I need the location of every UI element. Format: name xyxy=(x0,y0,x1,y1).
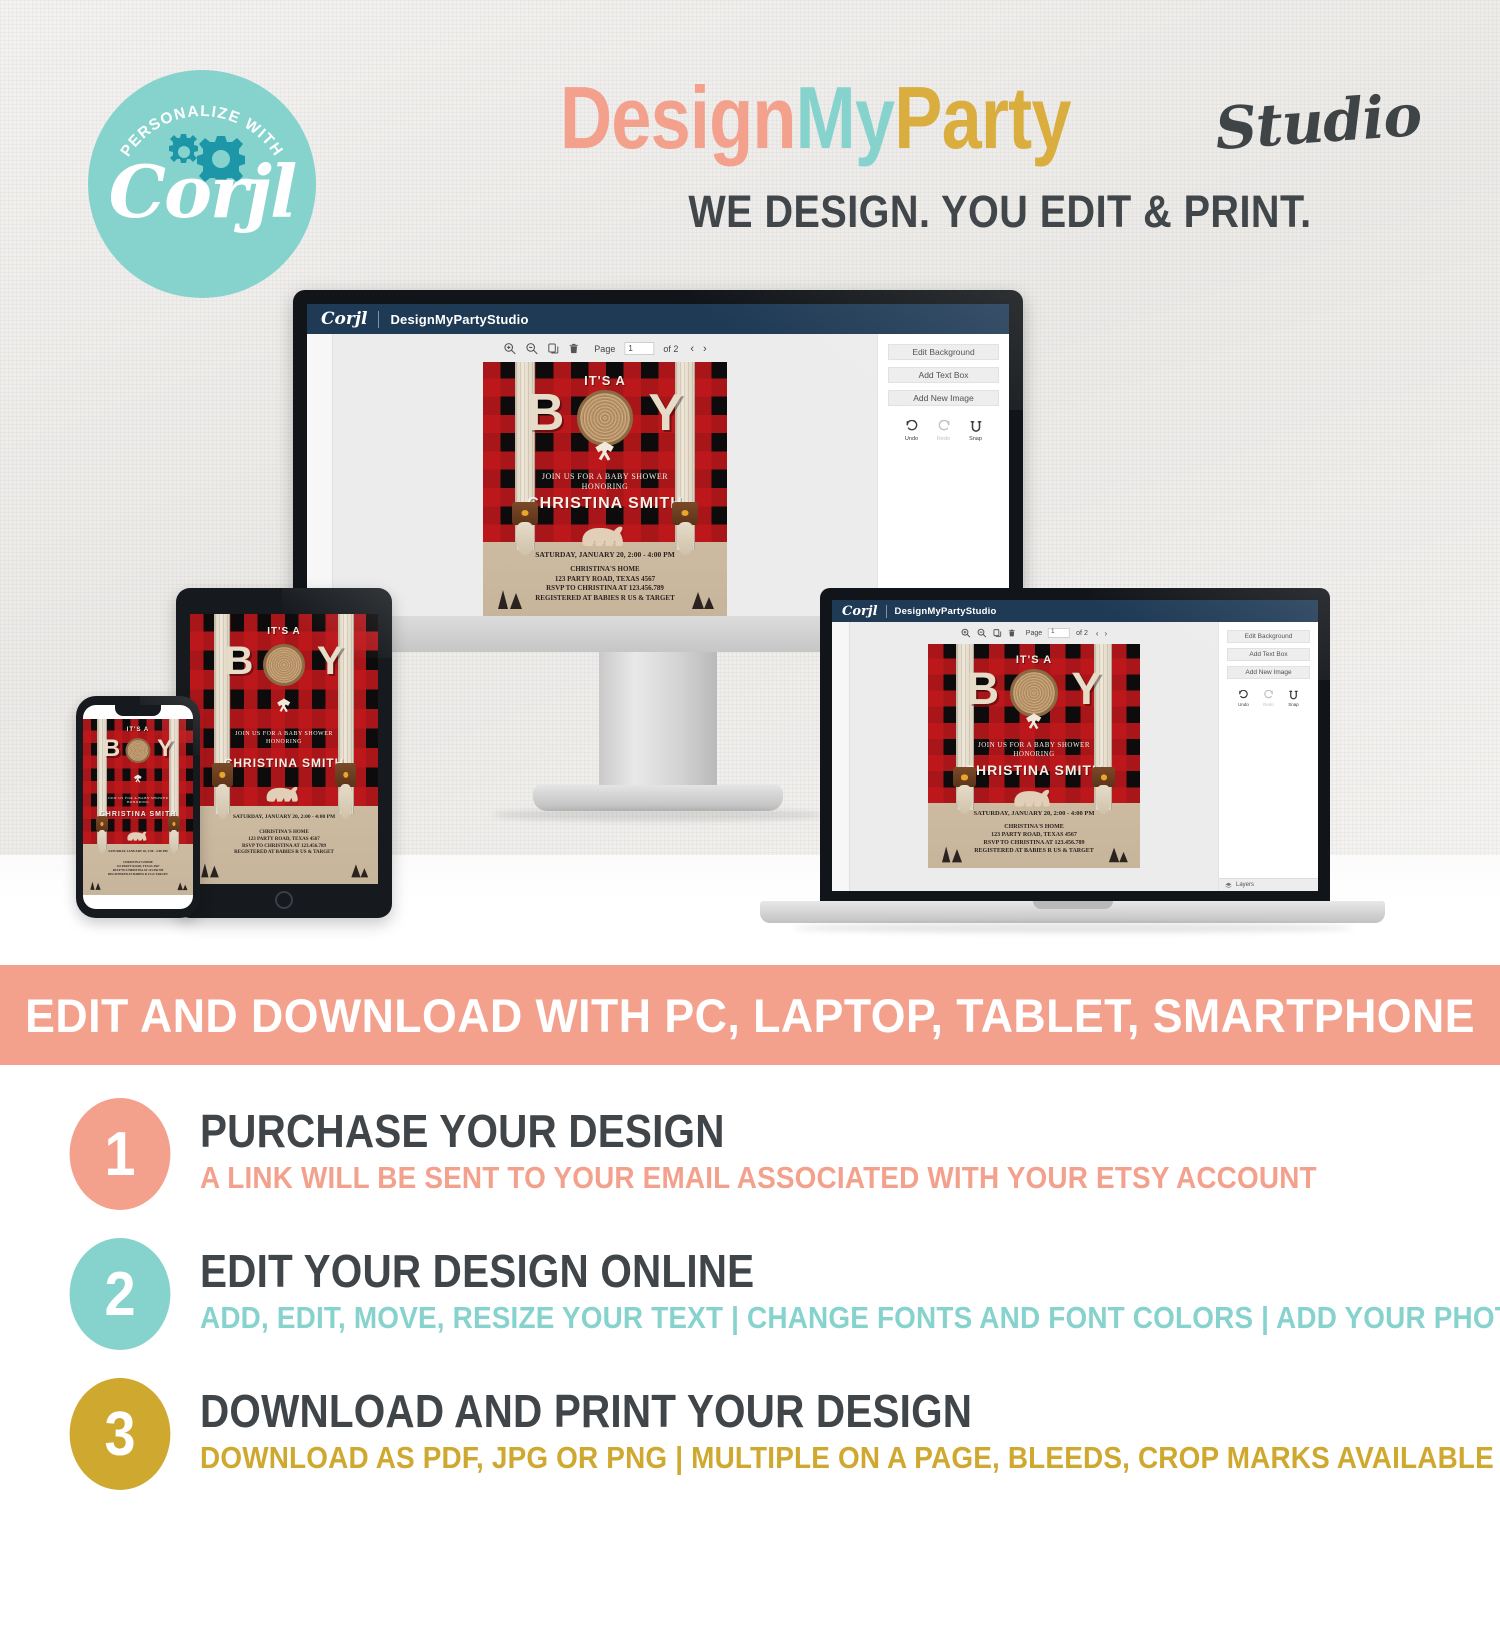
device-compatibility-banner: EDIT AND DOWNLOAD WITH PC, LAPTOP, TABLE… xyxy=(0,965,1500,1065)
zoom-out-icon[interactable] xyxy=(525,342,538,355)
edit-background-button[interactable]: Edit Background xyxy=(888,344,999,360)
banner-text: EDIT AND DOWNLOAD WITH PC, LAPTOP, TABLE… xyxy=(25,988,1475,1043)
laptop-shadow xyxy=(793,923,1353,933)
pine-tree-icon xyxy=(176,881,188,891)
invite-join-line2: HONORING xyxy=(928,750,1140,759)
layers-icon xyxy=(1225,882,1232,889)
laptop-editor-body: Page 1 of 2 ‹ › IT'S A xyxy=(832,622,1318,891)
redo-label: Redo xyxy=(937,436,950,442)
invite-detail-1: 123 PARTY ROAD, TEXAS 4567 xyxy=(483,575,727,584)
page-label: Page xyxy=(594,344,615,354)
laptop-screen: Corjl DesignMyPartyStudio xyxy=(832,600,1318,891)
invite-join-line2: HONORING xyxy=(83,800,193,804)
redo-button[interactable]: Redo xyxy=(937,420,951,442)
duplicate-icon[interactable] xyxy=(547,342,559,355)
phone-notch xyxy=(115,705,161,716)
step-title: DOWNLOAD AND PRINT YOUR DESIGN xyxy=(200,1384,972,1438)
snap-button[interactable]: Snap xyxy=(969,420,983,442)
laptop-canvas[interactable]: Page 1 of 2 ‹ › IT'S A xyxy=(850,622,1218,891)
invite-its-a-text: IT'S A xyxy=(83,727,193,733)
pine-tree-icon xyxy=(939,844,965,864)
laptop-right-panel: Edit Background Add Text Box Add New Ima… xyxy=(1218,622,1318,891)
page-total-label: of 2 xyxy=(663,344,678,354)
next-page-button[interactable]: › xyxy=(1105,629,1108,638)
invite-join-line2: HONORING xyxy=(483,482,727,492)
editor-canvas[interactable]: Page 1 of 2 ‹ › IT'S A xyxy=(333,334,877,616)
corjl-logo: Corjl xyxy=(321,309,367,329)
tablet-body: IT'S A B Y JOIN US FOR A BABY SHOWER HON… xyxy=(176,588,392,918)
pine-tree-icon xyxy=(199,861,221,879)
snap-button[interactable]: Snap xyxy=(1288,690,1299,707)
invite-join-line1: JOIN US FOR A BABY SHOWER xyxy=(190,731,378,739)
pine-tree-icon xyxy=(495,587,525,611)
bear-icon xyxy=(124,828,152,844)
monitor-stand-neck xyxy=(599,652,717,792)
prev-page-button[interactable]: ‹ xyxy=(690,343,694,355)
tablet-home-button[interactable] xyxy=(275,891,293,909)
crossed-axes-icon xyxy=(928,713,1140,731)
boy-letter-b: B xyxy=(224,639,253,683)
page-label: Page xyxy=(1026,630,1042,637)
monitor-bezel: Corjl DesignMyPartyStudio xyxy=(293,290,1023,616)
add-text-box-button[interactable]: Add Text Box xyxy=(888,367,999,383)
boy-letter-y: Y xyxy=(1071,663,1101,714)
step-subtitle: ADD, EDIT, MOVE, RESIZE YOUR TEXT | CHAN… xyxy=(200,1300,1500,1336)
brand-part-design: Design xyxy=(560,68,796,167)
brand-tagline: WE DESIGN. YOU EDIT & PRINT. xyxy=(613,186,1387,238)
step-item: 1 PURCHASE YOUR DESIGN A LINK WILL BE SE… xyxy=(0,1090,1500,1230)
shop-name-label: DesignMyPartyStudio xyxy=(895,606,997,617)
boy-letter-b: B xyxy=(103,735,120,762)
monitor-stand-base xyxy=(533,785,783,811)
bear-icon xyxy=(261,781,307,807)
redo-button[interactable]: Redo xyxy=(1263,690,1274,707)
laptop-left-rail[interactable] xyxy=(832,622,850,891)
invite-join-line2: HONORING xyxy=(190,739,378,747)
add-new-image-button[interactable]: Add New Image xyxy=(888,390,999,406)
invite-date-text: SATURDAY, JANUARY 20, 2:00 - 4:00 PM xyxy=(483,550,727,559)
brand-studio-script: Studio xyxy=(1213,81,1423,163)
zoom-in-icon[interactable] xyxy=(961,628,971,638)
layers-label: Layers xyxy=(1236,882,1254,888)
log-slice-icon xyxy=(1010,669,1058,717)
zoom-out-icon[interactable] xyxy=(977,628,987,638)
snap-label: Snap xyxy=(969,436,982,442)
duplicate-icon[interactable] xyxy=(993,628,1002,638)
shop-name-label: DesignMyPartyStudio xyxy=(390,312,528,327)
step-title: EDIT YOUR DESIGN ONLINE xyxy=(200,1244,754,1298)
invitation-preview[interactable]: IT'S A B Y JOIN US FOR A BAB xyxy=(483,362,727,616)
smartphone-mockup: IT'S A B Y JOIN US FOR A BABY SHOWER HON… xyxy=(76,696,200,918)
phone-screen: IT'S A B Y JOIN US FOR A BABY SHOWER HON… xyxy=(83,705,193,909)
header-divider xyxy=(886,605,887,618)
invite-its-a-text: IT'S A xyxy=(190,626,378,637)
laptop-editor-header-bar: Corjl DesignMyPartyStudio xyxy=(832,600,1318,622)
invitation-preview[interactable]: IT'S A B Y JOIN US FOR A BABY SHOWER HON… xyxy=(190,614,378,884)
log-slice-icon xyxy=(126,738,151,763)
invite-join-text: JOIN US FOR A BABY SHOWER HONORING xyxy=(190,731,378,746)
invite-details-text: CHRISTINA'S HOME 123 PARTY ROAD, TEXAS 4… xyxy=(83,860,193,876)
monitor-screen: Corjl DesignMyPartyStudio xyxy=(307,304,1009,616)
invitation-preview[interactable]: IT'S A B Y JOIN US FOR A BABY SHOWER HON… xyxy=(83,719,193,895)
tablet-mockup: IT'S A B Y JOIN US FOR A BABY SHOWER HON… xyxy=(176,588,392,918)
invite-join-line1: JOIN US FOR A BABY SHOWER xyxy=(483,472,727,482)
crossed-axes-icon xyxy=(83,774,193,784)
editor-header-bar: Corjl DesignMyPartyStudio xyxy=(307,304,1009,334)
invite-join-line1: JOIN US FOR A BABY SHOWER xyxy=(928,741,1140,750)
invite-its-a-text: IT'S A xyxy=(928,654,1140,666)
boy-letter-y: Y xyxy=(648,384,683,442)
redo-label: Redo xyxy=(1263,702,1274,707)
invite-date-text: SATURDAY, JANUARY 20, 2:00 - 4:00 PM xyxy=(190,814,378,820)
editor-toolbar: Page 1 of 2 ‹ › xyxy=(503,342,706,355)
crossed-axes-icon xyxy=(483,441,727,463)
next-page-button[interactable]: › xyxy=(703,343,707,355)
tablet-screen: IT'S A B Y JOIN US FOR A BABY SHOWER HON… xyxy=(190,614,378,884)
step-number-badge: 1 xyxy=(70,1098,171,1210)
boy-letter-y: Y xyxy=(317,639,344,683)
invite-join-text: JOIN US FOR A BABY SHOWER HONORING xyxy=(928,741,1140,759)
invite-detail-2: RSVP TO CHRISTINA AT 123.456.789 xyxy=(190,844,378,851)
editor-right-panel: Edit Background Add Text Box Add New Ima… xyxy=(877,334,1009,616)
step-subtitle: DOWNLOAD AS PDF, JPG OR PNG | MULTIPLE O… xyxy=(200,1440,1494,1476)
editor-body: Page 1 of 2 ‹ › IT'S A xyxy=(307,334,1009,616)
layers-bar[interactable]: Layers xyxy=(1219,878,1318,891)
invite-detail-3: REGISTERED AT BABIES R US & TARGET xyxy=(83,872,193,876)
bear-icon xyxy=(575,519,635,553)
invite-detail-1: 123 PARTY ROAD, TEXAS 4567 xyxy=(190,837,378,844)
header-divider xyxy=(378,311,379,328)
phone-body: IT'S A B Y JOIN US FOR A BABY SHOWER HON… xyxy=(76,696,200,918)
pine-tree-icon xyxy=(689,589,715,611)
boy-letter-y: Y xyxy=(157,735,173,762)
invitation-preview[interactable]: IT'S A B Y JOIN US FOR A BAB xyxy=(928,644,1140,868)
invite-join-text: JOIN US FOR A BABY SHOWER HONORING xyxy=(83,796,193,805)
add-text-box-button[interactable]: Add Text Box xyxy=(1227,648,1310,661)
boy-letter-b: B xyxy=(967,663,1000,714)
page-number-input[interactable]: 1 xyxy=(624,342,654,355)
invite-detail-3: REGISTERED AT BABIES R US & TARGET xyxy=(190,850,378,857)
step-number-badge: 3 xyxy=(70,1378,171,1490)
add-new-image-button[interactable]: Add New Image xyxy=(1227,666,1310,679)
page-total-label: of 2 xyxy=(1076,630,1088,637)
laptop-base-notch xyxy=(1033,901,1113,909)
edit-background-button[interactable]: Edit Background xyxy=(1227,630,1310,643)
boy-letter-b: B xyxy=(527,384,565,442)
badge-wordmark: Corjl xyxy=(88,156,316,228)
invite-detail-0: CHRISTINA'S HOME xyxy=(928,823,1140,831)
brand-part-my: My xyxy=(796,68,895,167)
trash-icon[interactable] xyxy=(568,342,579,355)
invite-date-text: SATURDAY, JANUARY 20, 2:00 - 4:00 PM xyxy=(928,810,1140,817)
step-number-badge: 2 xyxy=(70,1238,171,1350)
laptop-mockup: Corjl DesignMyPartyStudio xyxy=(760,588,1385,948)
undo-button[interactable]: Undo xyxy=(1238,690,1249,707)
corjl-logo: Corjl xyxy=(842,604,878,619)
page-number-input[interactable]: 1 xyxy=(1048,628,1070,638)
invite-detail-0: CHRISTINA'S HOME xyxy=(190,830,378,837)
personalize-with-corjl-badge: PERSONALIZE WITH Corjl xyxy=(88,70,316,298)
log-slice-icon xyxy=(263,644,305,686)
undo-label: Undo xyxy=(1238,702,1249,707)
snap-label: Snap xyxy=(1288,702,1299,707)
invite-details-text: CHRISTINA'S HOME 123 PARTY ROAD, TEXAS 4… xyxy=(190,830,378,857)
editor-action-icons: Undo Redo Snap xyxy=(878,420,1009,442)
invite-its-a-text: IT'S A xyxy=(483,373,727,388)
laptop-action-icons: Undo Redo Snap xyxy=(1219,690,1318,707)
undo-label: Undo xyxy=(905,436,918,442)
undo-button[interactable]: Undo xyxy=(905,420,919,442)
pine-tree-icon xyxy=(1106,845,1129,864)
step-item: 3 DOWNLOAD AND PRINT YOUR DESIGN DOWNLOA… xyxy=(0,1370,1500,1510)
invite-detail-1: 123 PARTY ROAD, TEXAS 4567 xyxy=(928,831,1140,839)
invite-join-text: JOIN US FOR A BABY SHOWER HONORING xyxy=(483,472,727,492)
pine-tree-icon xyxy=(89,880,102,891)
zoom-in-icon[interactable] xyxy=(503,342,516,355)
pine-tree-icon xyxy=(349,862,369,879)
laptop-lid: Corjl DesignMyPartyStudio xyxy=(820,588,1330,903)
trash-icon[interactable] xyxy=(1008,628,1016,638)
corjl-editor-laptop: Corjl DesignMyPartyStudio xyxy=(832,600,1318,891)
brand-part-party: Party xyxy=(894,68,1070,167)
step-item: 2 EDIT YOUR DESIGN ONLINE ADD, EDIT, MOV… xyxy=(0,1230,1500,1370)
invite-date-text: SATURDAY, JANUARY 20, 2:00 - 4:00 PM xyxy=(83,849,193,853)
laptop-toolbar: Page 1 of 2 ‹ › xyxy=(961,628,1107,638)
step-subtitle: A LINK WILL BE SENT TO YOUR EMAIL ASSOCI… xyxy=(200,1160,1317,1196)
crossed-axes-icon xyxy=(190,698,378,714)
corjl-editor-desktop: Corjl DesignMyPartyStudio xyxy=(307,304,1009,616)
invite-detail-0: CHRISTINA'S HOME xyxy=(483,565,727,574)
bear-icon xyxy=(1008,783,1060,813)
editor-left-rail[interactable] xyxy=(307,334,333,616)
log-slice-icon xyxy=(577,390,633,446)
prev-page-button[interactable]: ‹ xyxy=(1096,629,1099,638)
steps-section: 1 PURCHASE YOUR DESIGN A LINK WILL BE SE… xyxy=(0,1090,1500,1510)
step-title: PURCHASE YOUR DESIGN xyxy=(200,1104,725,1158)
